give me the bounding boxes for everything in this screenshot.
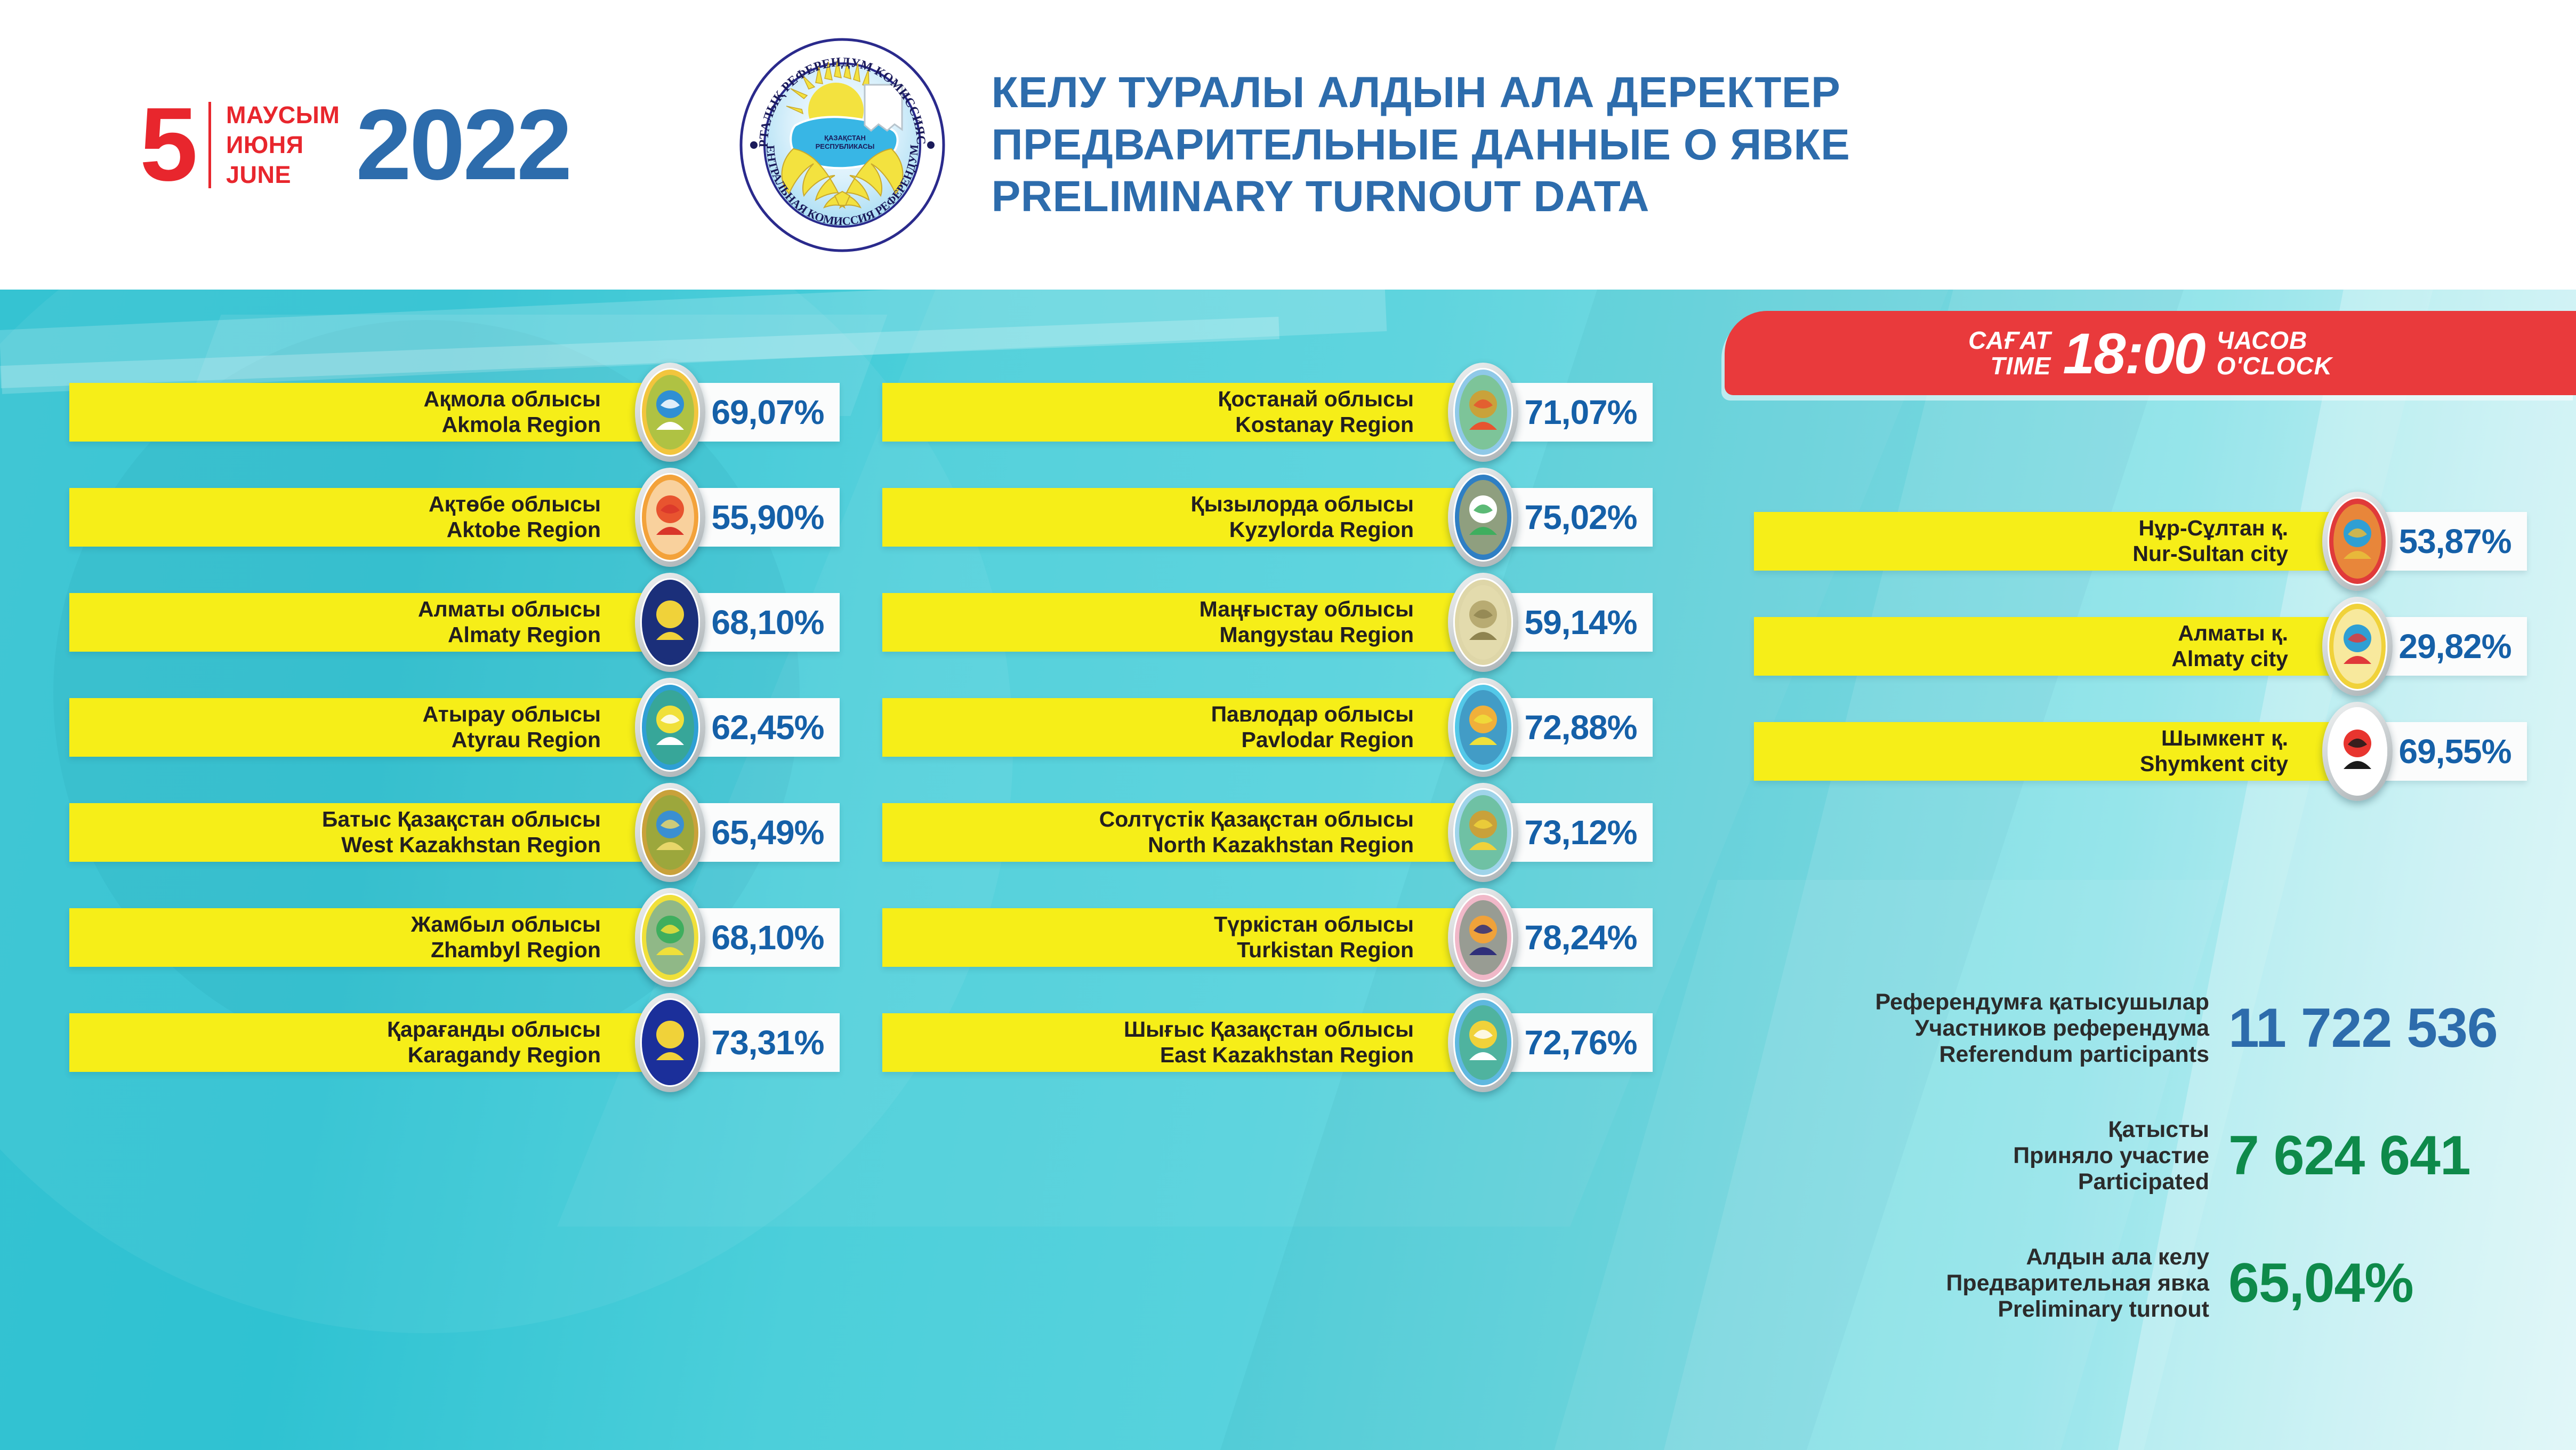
region-turnout-text: 29,82% <box>2398 627 2511 666</box>
region-label: Жамбыл облысы Zhambyl Region <box>69 908 670 967</box>
summary-value: 7 624 641 <box>2228 1124 2554 1188</box>
region-name-english: North Kazakhstan Region <box>1148 832 1414 858</box>
region-name-english: Kostanay Region <box>1235 412 1414 438</box>
region-name-english: West Kazakhstan Region <box>341 832 601 858</box>
akmola-region-emblem-icon <box>640 368 700 456</box>
infographic-page: 5 МАУСЫМ ИЮНЯ JUNE 2022 <box>0 0 2576 1450</box>
summary-label-english: Referendum participants <box>1939 1042 2209 1068</box>
region-label: Ақмола облысы Akmola Region <box>69 383 670 442</box>
svg-text:ҚАЗАҚСТАН: ҚАЗАҚСТАН <box>824 134 866 142</box>
region-label: Батыс Қазақстан облысы West Kazakhstan R… <box>69 803 670 862</box>
region-row[interactable]: Алматы қ. Almaty city 29,82% <box>1754 617 2527 676</box>
date-divider <box>208 102 211 188</box>
region-name-english: Pavlodar Region <box>1241 727 1414 753</box>
kyzylorda-region-emblem-icon <box>1453 473 1513 562</box>
month-russian: ИЮНЯ <box>226 133 340 157</box>
region-name-english: Zhambyl Region <box>431 938 601 963</box>
region-label: Шығыс Қазақстан облысы East Kazakhstan R… <box>882 1013 1483 1072</box>
region-label: Қызылорда облысы Kyzylorda Region <box>882 488 1483 547</box>
region-name-english: Turkistan Region <box>1237 938 1414 963</box>
region-turnout-text: 53,87% <box>2398 522 2511 561</box>
region-turnout-text: 73,12% <box>1524 813 1637 852</box>
west-kazakhstan-region-emblem-icon <box>640 788 700 877</box>
region-name-kazakh: Павлодар облысы <box>1211 702 1414 727</box>
region-turnout-text: 59,14% <box>1524 603 1637 642</box>
region-name-kazakh: Алматы облысы <box>418 597 601 622</box>
region-turnout-text: 69,55% <box>2398 732 2511 771</box>
nur-sultan-city-emblem-icon <box>2328 497 2387 586</box>
region-name-kazakh: Жамбыл облысы <box>411 912 601 938</box>
region-turnout-text: 73,31% <box>711 1023 824 1062</box>
region-emblem <box>1448 678 1518 777</box>
region-row[interactable]: Алматы облысы Almaty Region 68,10% <box>69 593 840 652</box>
region-row[interactable]: Нұр-Сұлтан қ. Nur-Sultan city 53,87% <box>1754 512 2527 571</box>
region-label: Солтүстік Қазақстан облысы North Kazakhs… <box>882 803 1483 862</box>
region-row[interactable]: Қызылорда облысы Kyzylorda Region 75,02% <box>882 488 1653 547</box>
summary-label-russian: Приняло участие <box>2013 1143 2209 1169</box>
region-row[interactable]: Солтүстік Қазақстан облысы North Kazakhs… <box>882 803 1653 862</box>
region-name-english: Almaty Region <box>448 622 601 648</box>
region-emblem <box>1448 783 1518 882</box>
region-emblem <box>1448 573 1518 672</box>
region-turnout-text: 68,10% <box>711 603 824 642</box>
date-month-names: МАУСЫМ ИЮНЯ JUNE <box>226 103 340 187</box>
almaty-city-emblem-icon <box>2328 602 2387 691</box>
region-name-kazakh: Атырау облысы <box>423 702 601 727</box>
summary-row: Қатысты Приняло участие Participated 7 6… <box>1679 1117 2554 1195</box>
region-emblem <box>635 573 705 672</box>
region-emblem <box>2322 492 2393 591</box>
region-label: Нұр-Сұлтан қ. Nur-Sultan city <box>1754 512 2357 571</box>
region-emblem <box>635 993 705 1092</box>
region-row[interactable]: Павлодар облысы Pavlodar Region 72,88% <box>882 698 1653 757</box>
time-banner-right-labels: ЧАСОВ O'CLOCK <box>2217 327 2332 379</box>
summary-statistics: Референдумға қатысушылар Участников рефе… <box>1679 989 2554 1372</box>
time-label-kazakh: САҒАТ <box>1968 327 2051 353</box>
region-name-english: East Kazakhstan Region <box>1160 1043 1414 1068</box>
summary-label-russian: Участников референдума <box>1915 1015 2209 1042</box>
region-row[interactable]: Атырау облысы Atyrau Region 62,45% <box>69 698 840 757</box>
region-turnout-text: 55,90% <box>711 498 824 537</box>
region-row[interactable]: Шығыс Қазақстан облысы East Kazakhstan R… <box>882 1013 1653 1072</box>
region-row[interactable]: Батыс Қазақстан облысы West Kazakhstan R… <box>69 803 840 862</box>
karagandy-region-emblem-icon <box>640 998 700 1087</box>
svg-text:РЕСПУБЛИКАСЫ: РЕСПУБЛИКАСЫ <box>815 142 874 150</box>
region-turnout-text: 62,45% <box>711 708 824 747</box>
region-name-english: Almaty city <box>2171 646 2288 672</box>
region-emblem <box>635 468 705 567</box>
zhambyl-region-emblem-icon <box>640 893 700 982</box>
region-name-kazakh: Қостанай облысы <box>1218 387 1414 412</box>
region-turnout-text: 75,02% <box>1524 498 1637 537</box>
region-name-kazakh: Шымкент қ. <box>2161 726 2288 751</box>
region-row[interactable]: Ақмола облысы Akmola Region 69,07% <box>69 383 840 442</box>
summary-label-russian: Предварительная явка <box>1946 1270 2209 1296</box>
city-column-3: Нұр-Сұлтан қ. Nur-Sultan city 53,87% Алм… <box>1754 512 2527 827</box>
north-kazakhstan-region-emblem-icon <box>1453 788 1513 877</box>
region-name-kazakh: Қарағанды облысы <box>387 1017 601 1043</box>
summary-label-english: Participated <box>2078 1169 2209 1195</box>
region-turnout-text: 71,07% <box>1524 392 1637 432</box>
time-suffix-russian: ЧАСОВ <box>2217 327 2308 353</box>
region-name-english: Karagandy Region <box>408 1043 601 1068</box>
region-name-english: Nur-Sultan city <box>2132 541 2288 567</box>
commission-emblem: ҚАЗАҚСТАН РЕСПУБЛИКАСЫ ОРТАЛЫҚ РЕФЕРЕНДУ… <box>730 28 954 262</box>
region-label: Алматы қ. Almaty city <box>1754 617 2357 676</box>
commission-emblem-icon: ҚАЗАҚСТАН РЕСПУБЛИКАСЫ ОРТАЛЫҚ РЕФЕРЕНДУ… <box>736 36 949 254</box>
region-label: Шымкент қ. Shymkent city <box>1754 722 2357 781</box>
region-row[interactable]: Қарағанды облысы Karagandy Region 73,31% <box>69 1013 840 1072</box>
region-name-kazakh: Қызылорда облысы <box>1191 492 1414 517</box>
summary-value: 65,04% <box>2228 1252 2554 1315</box>
region-emblem <box>1448 468 1518 567</box>
region-name-kazakh: Түркістан облысы <box>1214 912 1414 938</box>
summary-row: Алдын ала келу Предварительная явка Prel… <box>1679 1244 2554 1323</box>
region-row[interactable]: Түркістан облысы Turkistan Region 78,24% <box>882 908 1653 967</box>
summary-label-kazakh: Алдын ала келу <box>2026 1244 2210 1270</box>
headline-russian: ПРЕДВАРИТЕЛЬНЫЕ ДАННЫЕ О ЯВКЕ <box>992 121 1850 170</box>
region-emblem <box>635 363 705 462</box>
region-turnout-text: 72,76% <box>1524 1023 1637 1062</box>
region-emblem <box>635 888 705 987</box>
month-english: JUNE <box>226 163 340 187</box>
region-row[interactable]: Шымкент қ. Shymkent city 69,55% <box>1754 722 2527 781</box>
region-name-english: Mangystau Region <box>1220 622 1414 648</box>
region-row[interactable]: Маңғыстау облысы Mangystau Region 59,14% <box>882 593 1653 652</box>
region-emblem <box>1448 888 1518 987</box>
region-row[interactable]: Қостанай облысы Kostanay Region 71,07% <box>882 383 1653 442</box>
summary-labels: Алдын ала келу Предварительная явка Prel… <box>1946 1244 2209 1323</box>
region-label: Қарағанды облысы Karagandy Region <box>69 1013 670 1072</box>
region-row[interactable]: Ақтөбе облысы Aktobe Region 55,90% <box>69 488 840 547</box>
region-name-kazakh: Шығыс Қазақстан облысы <box>1124 1017 1414 1043</box>
region-label: Алматы облысы Almaty Region <box>69 593 670 652</box>
region-name-kazakh: Нұр-Сұлтан қ. <box>2138 516 2288 541</box>
month-kazakh: МАУСЫМ <box>226 103 340 127</box>
kostanay-region-emblem-icon <box>1453 368 1513 456</box>
time-label-english: TIME <box>1990 353 2051 379</box>
region-name-kazakh: Солтүстік Қазақстан облысы <box>1099 807 1414 832</box>
region-label: Ақтөбе облысы Aktobe Region <box>69 488 670 547</box>
summary-label-kazakh: Референдумға қатысушылар <box>1875 989 2209 1015</box>
date-day: 5 <box>140 102 195 188</box>
region-name-english: Kyzylorda Region <box>1229 517 1414 543</box>
time-value: 18:00 <box>2063 320 2204 387</box>
mangystau-region-emblem-icon <box>1453 578 1513 667</box>
shymkent-city-emblem-icon <box>2328 707 2387 796</box>
region-turnout-text: 68,10% <box>711 918 824 957</box>
summary-label-english: Preliminary turnout <box>1998 1296 2209 1323</box>
pavlodar-region-emblem-icon <box>1453 683 1513 772</box>
time-banner: САҒАТ TIME 18:00 ЧАСОВ O'CLOCK <box>1725 311 2576 395</box>
summary-label-kazakh: Қатысты <box>2108 1117 2209 1143</box>
summary-value: 11 722 536 <box>2228 997 2554 1060</box>
region-emblem <box>1448 993 1518 1092</box>
region-name-kazakh: Маңғыстау облысы <box>1200 597 1414 622</box>
header-bar: 5 МАУСЫМ ИЮНЯ JUNE 2022 <box>0 0 2576 290</box>
region-turnout-text: 72,88% <box>1524 708 1637 747</box>
region-label: Қостанай облысы Kostanay Region <box>882 383 1483 442</box>
region-name-english: Shymkent city <box>2140 751 2288 777</box>
region-label: Павлодар облысы Pavlodar Region <box>882 698 1483 757</box>
summary-labels: Қатысты Приняло участие Participated <box>2013 1117 2209 1195</box>
atyrau-region-emblem-icon <box>640 683 700 772</box>
headline-kazakh: КЕЛУ ТУРАЛЫ АЛДЫН АЛА ДЕРЕКТЕР <box>992 68 1850 117</box>
headline-english: PRELIMINARY TURNOUT DATA <box>992 172 1850 221</box>
region-label: Түркістан облысы Turkistan Region <box>882 908 1483 967</box>
region-turnout-text: 69,07% <box>711 392 824 432</box>
region-turnout-text: 65,49% <box>711 813 824 852</box>
region-row[interactable]: Жамбыл облысы Zhambyl Region 68,10% <box>69 908 840 967</box>
region-emblem <box>1448 363 1518 462</box>
region-column-1: Ақмола облысы Akmola Region 69,07% Ақтөб… <box>69 383 840 1118</box>
region-column-2: Қостанай облысы Kostanay Region 71,07% Қ… <box>882 383 1653 1118</box>
summary-row: Референдумға қатысушылар Участников рефе… <box>1679 989 2554 1068</box>
region-emblem <box>2322 702 2393 801</box>
time-banner-left-labels: САҒАТ TIME <box>1968 327 2051 379</box>
region-name-kazakh: Батыс Қазақстан облысы <box>322 807 601 832</box>
region-turnout-text: 78,24% <box>1524 918 1637 957</box>
headline: КЕЛУ ТУРАЛЫ АЛДЫН АЛА ДЕРЕКТЕР ПРЕДВАРИТ… <box>992 68 1850 221</box>
region-label: Атырау облысы Atyrau Region <box>69 698 670 757</box>
time-suffix-english: O'CLOCK <box>2217 353 2332 379</box>
aktobe-region-emblem-icon <box>640 473 700 562</box>
region-emblem <box>2322 597 2393 696</box>
turkistan-region-emblem-icon <box>1453 893 1513 982</box>
region-name-english: Aktobe Region <box>447 517 601 543</box>
summary-labels: Референдумға қатысушылар Участников рефе… <box>1875 989 2209 1068</box>
date-year: 2022 <box>356 102 570 188</box>
region-emblem <box>635 678 705 777</box>
region-name-english: Akmola Region <box>442 412 601 438</box>
region-emblem <box>635 783 705 882</box>
east-kazakhstan-region-emblem-icon <box>1453 998 1513 1087</box>
date-block: 5 МАУСЫМ ИЮНЯ JUNE 2022 <box>140 102 570 188</box>
region-name-kazakh: Ақтөбе облысы <box>429 492 601 517</box>
region-name-kazakh: Ақмола облысы <box>424 387 601 412</box>
region-label: Маңғыстау облысы Mangystau Region <box>882 593 1483 652</box>
region-name-english: Atyrau Region <box>452 727 601 753</box>
almaty-region-emblem-icon <box>640 578 700 667</box>
region-name-kazakh: Алматы қ. <box>2178 621 2288 646</box>
